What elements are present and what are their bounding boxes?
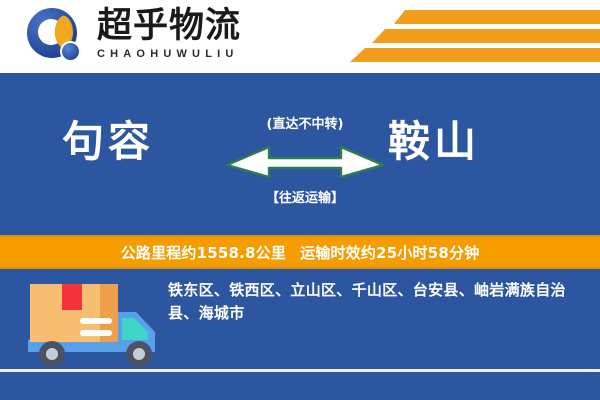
duration-text: 运输时效约25小时58分钟 bbox=[300, 242, 479, 263]
brand-block: 超乎物流 CHAOHUWULIU bbox=[97, 6, 272, 61]
coverage-districts: 铁东区、铁西区、立山区、千山区、台安县、岫岩满族自治县、海城市 bbox=[168, 279, 580, 325]
orange-speed-stripes-icon bbox=[330, 8, 600, 68]
main-body: 句容 (直达不中转) 【往返运输】 鞍山 公路里程约1558.8公里 运输时效约… bbox=[0, 73, 600, 400]
bidirectional-arrow-icon bbox=[225, 137, 385, 181]
info-bar: 公路里程约1558.8公里 运输时效约25小时58分钟 bbox=[0, 235, 600, 269]
route-arrow-group: (直达不中转) 【往返运输】 bbox=[225, 111, 385, 211]
stripe-1 bbox=[394, 10, 600, 24]
brand-name-cn: 超乎物流 bbox=[97, 6, 272, 46]
logo-dot-icon bbox=[60, 41, 81, 62]
logistics-route-banner: 超乎物流 CHAOHUWULIU 句容 (直达不中转) 【往返运输】 鞍山 公路… bbox=[0, 0, 600, 400]
header: 超乎物流 CHAOHUWULIU bbox=[0, 0, 600, 73]
round-trip-note: 【往返运输】 bbox=[225, 187, 385, 206]
company-logo bbox=[27, 8, 85, 66]
delivery-truck-icon bbox=[18, 278, 168, 370]
ground-line bbox=[0, 369, 600, 372]
origin-city: 句容 bbox=[62, 117, 154, 167]
route-section: 句容 (直达不中转) 【往返运输】 鞍山 bbox=[0, 73, 600, 236]
direct-route-note: (直达不中转) bbox=[225, 113, 385, 132]
brand-name-en: CHAOHUWULIU bbox=[97, 47, 272, 61]
distance-text: 公路里程约1558.8公里 bbox=[121, 242, 286, 263]
destination-city: 鞍山 bbox=[388, 117, 480, 167]
stripe-2 bbox=[372, 29, 600, 43]
stripe-3 bbox=[350, 48, 600, 62]
